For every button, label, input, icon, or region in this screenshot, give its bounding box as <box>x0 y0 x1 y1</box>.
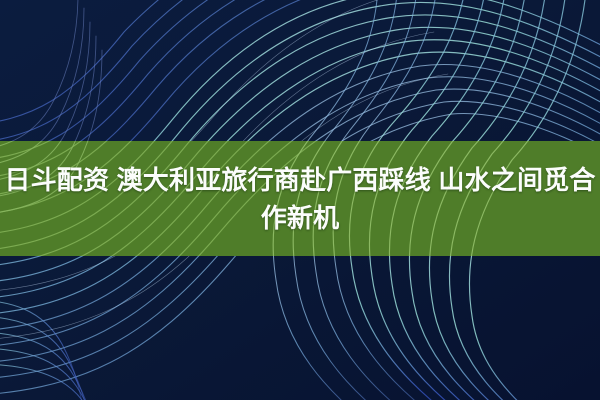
article-headline: 日斗配资 澳大利亚旅行商赴广西踩线 山水之间觅合作新机 <box>4 161 596 237</box>
article-banner: 日斗配资 澳大利亚旅行商赴广西踩线 山水之间觅合作新机 <box>0 0 600 400</box>
headline-container: 日斗配资 澳大利亚旅行商赴广西踩线 山水之间觅合作新机 <box>0 141 600 256</box>
